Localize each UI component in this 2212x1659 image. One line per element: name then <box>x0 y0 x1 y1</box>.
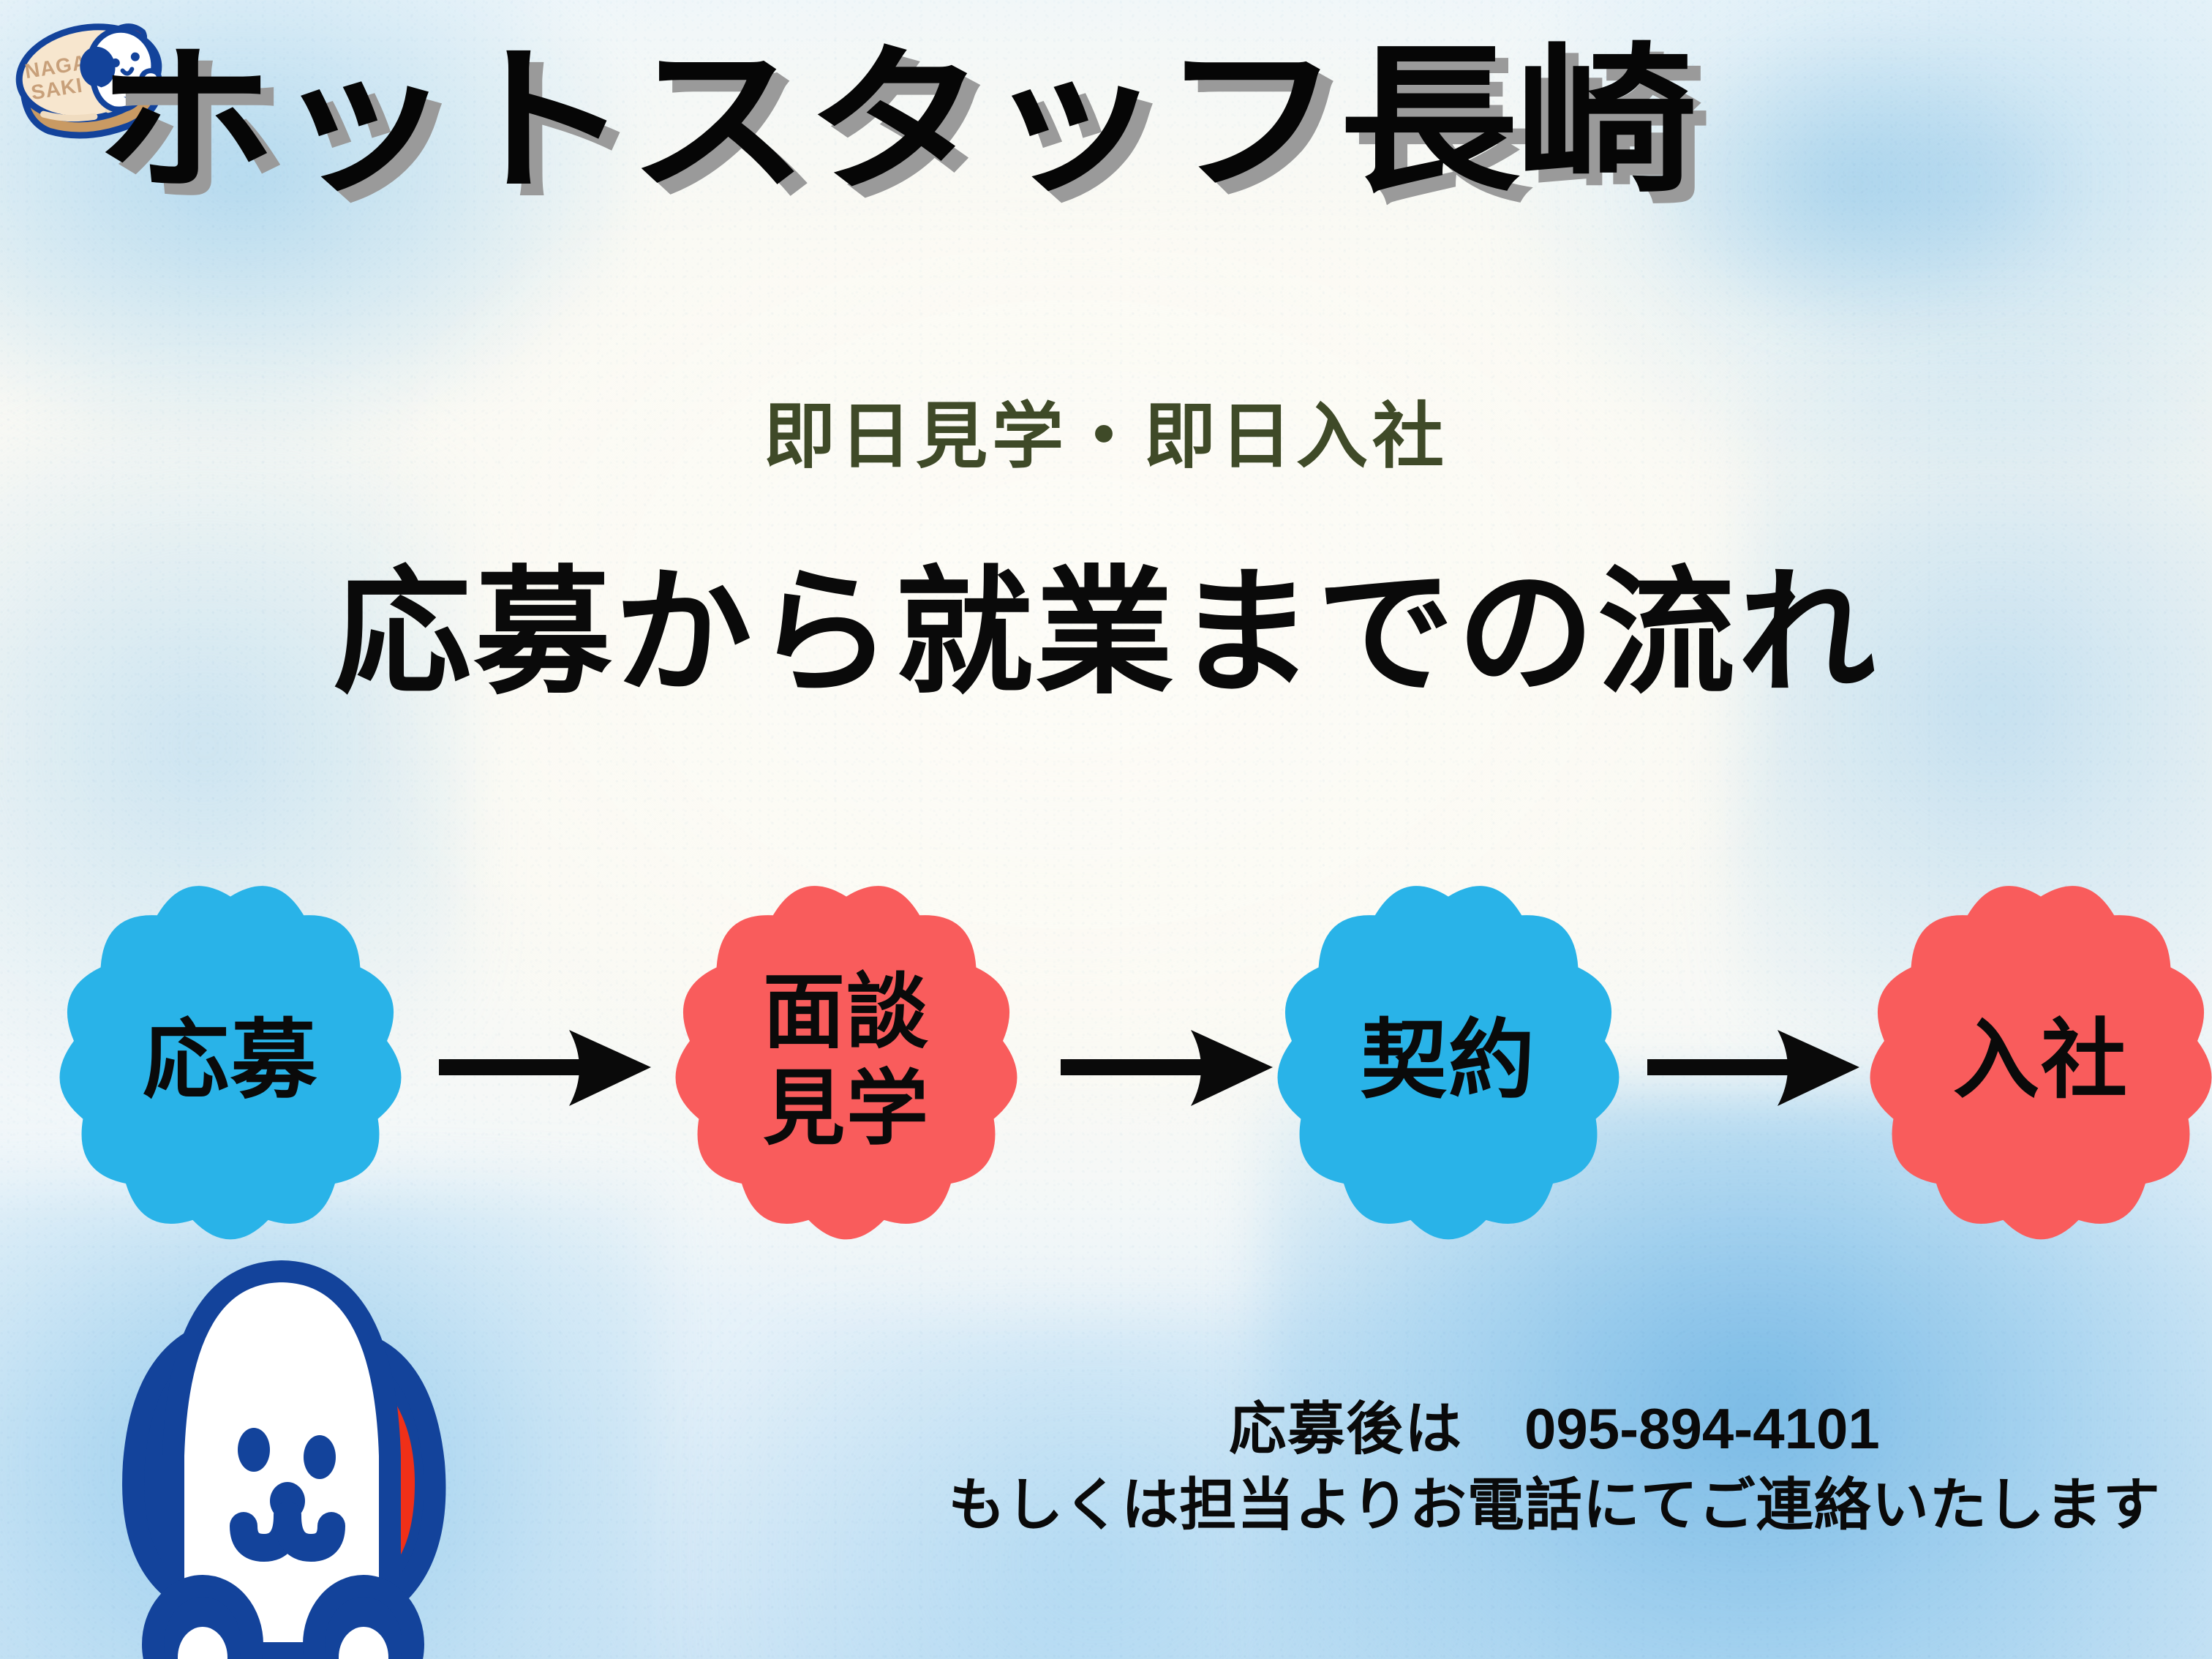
flow-arrow-3 <box>1647 1024 1859 1112</box>
flow-arrow-2 <box>1061 1024 1273 1112</box>
flow-step-label-4: 入社 <box>1862 874 2212 1247</box>
flow-step-badge-1[interactable]: 応募 <box>51 874 410 1247</box>
contact-prefix: 応募後は <box>1229 1396 1463 1461</box>
flow-arrow-1 <box>439 1024 651 1112</box>
flow-step-label-2-line-1: 面談 <box>763 964 930 1061</box>
phone-number[interactable]: 095-894-4101 <box>1524 1396 1880 1461</box>
main-title: 応募から就業までの流れ <box>0 556 2212 710</box>
poster-canvas: NAGA SAKI ホットスタッフ長崎 即日見学・即日入社 応募から就業までの流… <box>0 0 2212 1659</box>
flow-step-badge-3[interactable]: 契約 <box>1269 874 1628 1247</box>
contact-block: 応募後は 095-894-4101 もしくは担当よりお電話にてご連絡いたします <box>900 1393 2209 1541</box>
flow-step-label-2: 面談 見学 <box>667 874 1026 1247</box>
flow-step-label-1-line-1: 応募 <box>143 1016 318 1105</box>
flow-diagram: 応募 面談 見学 <box>0 874 2212 1254</box>
dog-mascot-icon <box>91 1244 472 1659</box>
flow-step-label-3: 契約 <box>1269 874 1628 1247</box>
page-title: ホットスタッフ長崎 <box>95 45 2212 206</box>
contact-line-1: 応募後は 095-894-4101 <box>900 1393 2209 1464</box>
flow-step-label-1: 応募 <box>51 874 410 1247</box>
flow-step-label-3-line-1: 契約 <box>1361 1016 1536 1105</box>
flow-step-badge-2[interactable]: 面談 見学 <box>667 874 1026 1247</box>
flow-step-badge-4[interactable]: 入社 <box>1862 874 2212 1247</box>
flow-step-label-2-line-2: 見学 <box>763 1061 930 1157</box>
contact-line-2: もしくは担当よりお電話にてご連絡いたします <box>900 1468 2209 1541</box>
subtitle: 即日見学・即日入社 <box>0 392 2212 480</box>
flow-step-label-4-line-1: 入社 <box>1953 1016 2129 1105</box>
